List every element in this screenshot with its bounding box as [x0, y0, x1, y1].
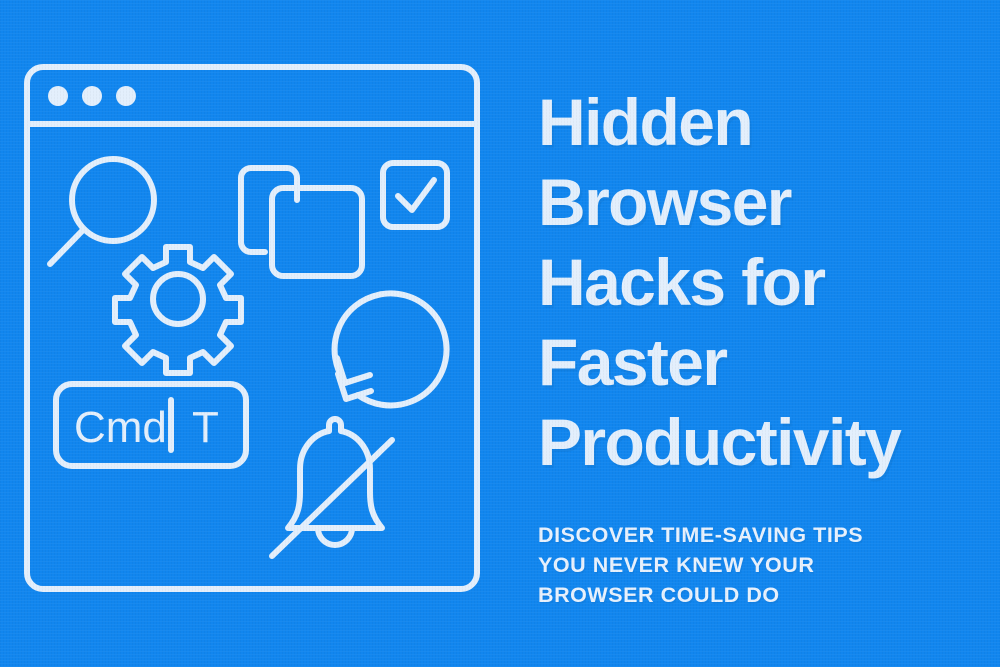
browser-window-illustration: Cmd T [0, 0, 510, 667]
headline-line-4: Faster [538, 322, 988, 402]
subhead-line-3: BROWSER COULD DO [538, 580, 988, 610]
headline-line-3: Hacks for [538, 242, 988, 322]
page-title: Hidden Browser Hacks for Faster Producti… [538, 82, 988, 482]
poster-canvas: Cmd T Hidden Browser Hacks for Faster Pr… [0, 0, 1000, 667]
headline-line-1: Hidden [538, 82, 988, 162]
subhead-line-2: YOU NEVER KNEW YOUR [538, 550, 988, 580]
keyboard-shortcut-key: Cmd T [56, 384, 246, 466]
traffic-light-dot-1 [48, 86, 68, 106]
shortcut-key-label: T [192, 403, 219, 452]
search-icon [50, 159, 154, 264]
copy-windows-icon [241, 168, 362, 276]
traffic-light-dot-2 [82, 86, 102, 106]
text-block: Hidden Browser Hacks for Faster Producti… [538, 82, 988, 610]
subhead-line-1: DISCOVER TIME-SAVING TIPS [538, 520, 988, 550]
checkbox-checked-icon [383, 163, 447, 227]
page-subtitle: DISCOVER TIME-SAVING TIPS YOU NEVER KNEW… [538, 520, 988, 610]
browser-window-frame [27, 67, 477, 589]
refresh-sync-icon [335, 293, 447, 405]
bell-muted-icon [272, 419, 392, 556]
headline-line-2: Browser [538, 162, 988, 242]
gear-icon [115, 247, 241, 373]
headline-line-5: Productivity [538, 402, 988, 482]
traffic-light-dot-3 [116, 86, 136, 106]
bell-slash-line [272, 440, 392, 556]
shortcut-modifier-label: Cmd [74, 403, 167, 452]
